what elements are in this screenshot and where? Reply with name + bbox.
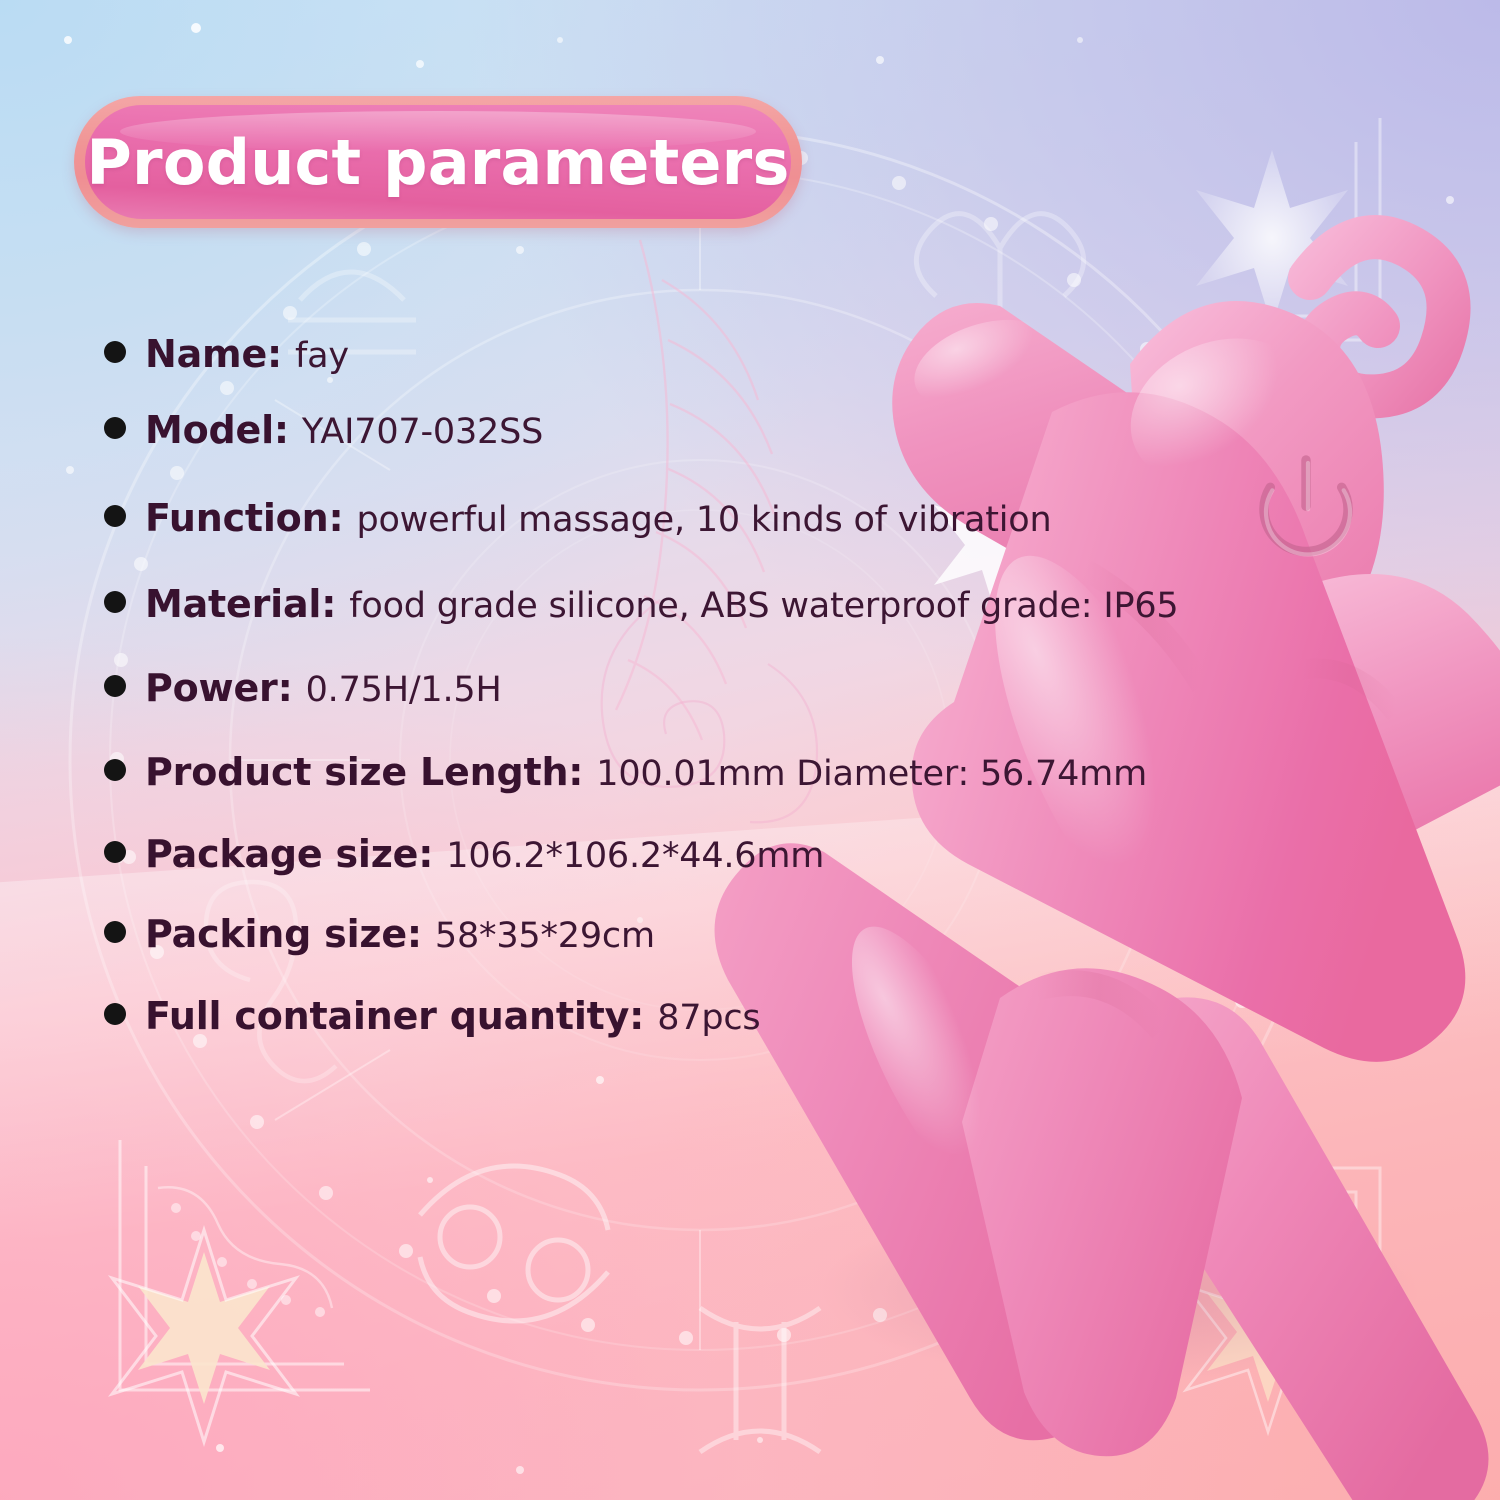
spec-label-function: Function: [145, 496, 343, 540]
bullet-dot-icon [104, 591, 126, 613]
product-v-junction [962, 968, 1242, 1456]
power-icon-inner-shadow [1266, 463, 1350, 554]
spec-value-name: fay [295, 336, 349, 376]
corner-frame-dots [171, 1203, 325, 1317]
hang-loop [1310, 237, 1449, 396]
bullet-dot-icon [104, 675, 126, 697]
spec-value-function: powerful massage, 10 kinds of vibration [356, 500, 1051, 540]
bullet-dot-icon [104, 841, 126, 863]
bullet-dot-icon [104, 1003, 126, 1025]
corner-frame-top-right [1160, 118, 1380, 340]
product-crease-right [1300, 668, 1396, 714]
spec-value-material: food grade silicone, ABS waterproof grad… [349, 586, 1178, 626]
eight-pointed-star-outline [112, 1230, 296, 1442]
eight-pointed-star-outline [1186, 1244, 1350, 1432]
product-prong-right [1110, 997, 1489, 1500]
spec-row-power: Power: 0.75H/1.5H [104, 666, 1114, 710]
bullet-dot-icon [104, 921, 126, 943]
spec-label-package-size: Package size: [145, 832, 433, 876]
spec-label-container-quantity: Full container quantity: [145, 994, 644, 1038]
page-title-pill-inner: Product parameters [85, 105, 791, 219]
spec-row-container-quantity: Full container quantity: 87pcs [104, 994, 1114, 1038]
spec-row-package-size: Package size: 106.2*106.2*44.6mm [104, 832, 1114, 876]
eight-pointed-star [1207, 1262, 1329, 1402]
spec-row-model: Model: YAI707-032SS [104, 408, 1114, 452]
spec-value-power: 0.75H/1.5H [306, 670, 502, 710]
specification-list: Name: fay Model: YAI707-032SS Function: … [104, 332, 1114, 1038]
eight-pointed-star [138, 1252, 270, 1404]
spec-value-package-size: 106.2*106.2*44.6mm [446, 836, 824, 876]
bullet-dot-icon [104, 417, 126, 439]
spec-label-model: Model: [145, 408, 289, 452]
product-arm-right [1270, 574, 1500, 862]
corner-frame-bottom-right [1160, 1168, 1380, 1390]
power-icon [1264, 460, 1348, 551]
spec-label-packing-size: Packing size: [145, 912, 422, 956]
spec-row-packing-size: Packing size: 58*35*29cm [104, 912, 1114, 956]
spec-value-packing-size: 58*35*29cm [435, 916, 655, 956]
corner-frame-bottom-left [120, 1140, 370, 1390]
spec-value-model: YAI707-032SS [302, 412, 543, 452]
spec-label-product-size: Product size Length: [145, 750, 583, 794]
spec-label-power: Power: [145, 666, 293, 710]
product-shadow [820, 1198, 1420, 1382]
page-title: Product parameters [86, 126, 789, 199]
zodiac-glyph-gemini [700, 1308, 820, 1452]
spec-label-name: Name: [145, 332, 282, 376]
spec-value-product-size: 100.01mm Diameter: 56.74mm [596, 754, 1147, 794]
bullet-dot-icon [104, 341, 126, 363]
product-parameters-infographic: Product parameters [0, 0, 1500, 1500]
eight-pointed-star [1196, 150, 1348, 326]
spec-row-material: Material: food grade silicone, ABS water… [104, 582, 1114, 626]
spec-row-product-size: Product size Length: 100.01mm Diameter: … [104, 750, 1114, 794]
spec-value-container-quantity: 87pcs [657, 998, 760, 1038]
page-title-banner: Product parameters [74, 96, 802, 228]
spec-row-function: Function: powerful massage, 10 kinds of … [104, 496, 1114, 540]
bullet-dot-icon [104, 759, 126, 781]
spec-row-name: Name: fay [104, 332, 1114, 376]
zodiac-glyph-cancer [420, 1166, 608, 1321]
spec-label-material: Material: [145, 582, 336, 626]
bullet-dot-icon [104, 505, 126, 527]
product-highlight-head [1108, 313, 1331, 512]
